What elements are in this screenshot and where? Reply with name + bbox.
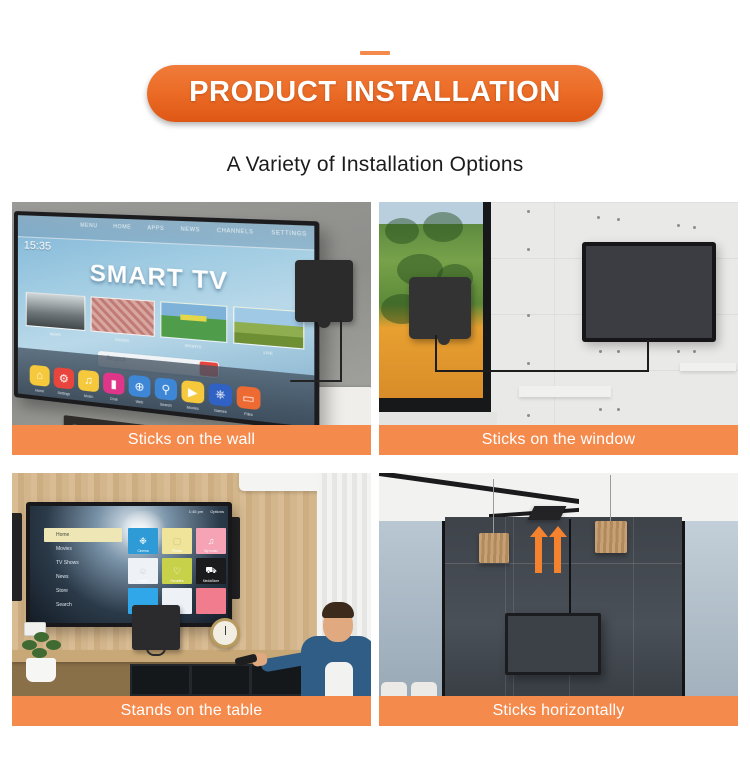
tv-side-menu: Home Movies TV Shows News Store Search [44, 528, 122, 612]
card-caption: Sticks on the wall [12, 425, 371, 455]
tv-thumbnail-label: SPORTS [161, 342, 226, 352]
antenna-device [295, 260, 353, 322]
files-app-icon: ▭Files [237, 386, 261, 411]
tv-menu-item: HOME [113, 224, 131, 231]
card-caption: Sticks on the window [379, 425, 738, 455]
video-app-icon: ▶Movies [181, 380, 204, 404]
tv-thumbnail-row: NEWS SHOWS SPORTS LIVE [26, 292, 305, 350]
pendant-lamp [595, 521, 627, 553]
tv-clock: 1:45 pm [189, 509, 203, 514]
page-subtitle: A Variety of Installation Options [0, 153, 750, 177]
installation-card-wall[interactable]: MENU HOME APPS NEWS CHANNELS SETTINGS 15… [12, 202, 371, 455]
photo-sticks-on-the-window [379, 202, 738, 425]
smart-tv-device: MENU HOME APPS NEWS CHANNELS SETTINGS 15… [14, 211, 319, 425]
photo-sticks-horizontally [379, 473, 738, 696]
music-app-icon: ♫Music [78, 370, 99, 393]
person-hair [322, 602, 354, 618]
wall-mounted-tv [505, 613, 601, 675]
antenna-device [409, 277, 471, 339]
tv-thumbnail-label: SHOWS [92, 336, 153, 346]
photo-sticks-on-the-wall: MENU HOME APPS NEWS CHANNELS SETTINGS 15… [12, 202, 371, 425]
product-installation-page: PRODUCT INSTALLATION A Variety of Instal… [0, 0, 750, 763]
tv-menu-item-store: Store [44, 584, 122, 598]
tv-thumbnail: SPORTS [160, 301, 227, 343]
tile-extra [196, 588, 226, 614]
antenna-cable [340, 320, 342, 382]
plant-pot [26, 658, 56, 682]
installation-card-horizontal[interactable]: Sticks horizontally [379, 473, 738, 726]
tv-menu-item: SETTINGS [271, 230, 307, 238]
tv-menu-item-search: Search [44, 598, 122, 612]
wall-mounted-tv [582, 242, 716, 342]
smart-tv-screen: MENU HOME APPS NEWS CHANNELS SETTINGS 15… [18, 215, 314, 425]
plant-leaves [20, 628, 64, 662]
music-tile-icon: ♫My music [196, 528, 226, 554]
wall-mounted-tv: 1:45 pm Options Home Movies TV Shows New… [26, 502, 232, 627]
pendant-lamp [479, 533, 509, 563]
profile-tile-icon: ☺Profile [128, 558, 158, 584]
tv-menu-item: APPS [147, 225, 164, 232]
favorites-tile-icon: ♡Favorites [162, 558, 192, 584]
tower-speaker [12, 513, 22, 601]
tv-thumbnail-label: LIVE [234, 348, 303, 358]
antenna-cable [569, 519, 571, 617]
office-chairs [381, 680, 451, 696]
tv-options-label: Options [210, 509, 224, 514]
tile-label: MediaStore [196, 579, 226, 583]
tv-menu-item-movies: Movies [44, 542, 122, 556]
tv-thumbnail: SHOWS [91, 296, 154, 337]
photos-tile-icon: ▢Photos [162, 528, 192, 554]
tv-screen [586, 246, 712, 338]
page-title: PRODUCT INSTALLATION [147, 65, 603, 122]
antenna-cable [647, 340, 649, 372]
home-app-icon: ⌂Home [30, 365, 50, 387]
installation-card-window[interactable]: Sticks on the window [379, 202, 738, 455]
card-caption: Stands on the table [12, 696, 371, 726]
antenna-device [132, 605, 180, 650]
installation-options-grid: MENU HOME APPS NEWS CHANNELS SETTINGS 15… [12, 202, 738, 726]
tile-label: Photos [162, 549, 192, 553]
tile-label: Profile [128, 579, 158, 583]
tv-thumbnail: LIVE [233, 306, 305, 349]
wall-shelf [519, 386, 611, 397]
tv-clock: 15:35 [24, 239, 51, 252]
person-shirt [325, 662, 353, 696]
up-arrow-icon [535, 535, 542, 573]
tv-tile-grid: ❉Cinema ▢Photos ♫My music ☺Profile ♡Favo… [128, 528, 226, 614]
antenna-device [528, 506, 567, 520]
tv-menu-item-news: News [44, 570, 122, 584]
tv-menu-item-home: Home [44, 528, 122, 542]
antenna-cable [435, 335, 437, 371]
tile-label: Cinema [128, 549, 158, 553]
photo-stands-on-the-table: 1:45 pm Options Home Movies TV Shows New… [12, 473, 371, 696]
tv-screen [508, 616, 598, 672]
pendant-lamp-wire [610, 475, 611, 523]
games-app-icon: ⎈Games [209, 383, 232, 407]
antenna-cable [435, 370, 649, 372]
tv-thumbnail-label: NEWS [27, 330, 85, 339]
tv-menu-item-tvshows: TV Shows [44, 556, 122, 570]
tv-status-bar: 1:45 pm Options [189, 509, 224, 514]
mediastore-tile-icon: ⛟MediaStore [196, 558, 226, 584]
antenna-cable [290, 380, 342, 382]
web-app-icon: ⊕Web [129, 375, 151, 398]
window-sill [379, 412, 497, 425]
settings-app-icon: ⚙Settings [54, 367, 74, 390]
tile-label: My music [196, 549, 226, 553]
tv-menu-item: NEWS [181, 226, 200, 233]
accent-dash-divider [360, 51, 390, 55]
wall-shelf [680, 363, 736, 371]
desk-clock [210, 618, 240, 648]
up-arrow-icon [554, 535, 561, 573]
pendant-lamp-wire [493, 479, 494, 535]
direction-arrows [535, 535, 561, 573]
card-caption: Sticks horizontally [379, 696, 738, 726]
cinema-tile-icon: ❉Cinema [128, 528, 158, 554]
page-header: PRODUCT INSTALLATION A Variety of Instal… [0, 0, 750, 177]
chat-app-icon: ▮Chat [103, 372, 124, 395]
window-right [680, 521, 738, 696]
tv-thumbnail: NEWS [26, 292, 86, 331]
window-left [379, 521, 447, 696]
tv-menu-item: MENU [80, 223, 97, 230]
tile-label: Favorites [162, 579, 192, 583]
search-app-icon: ⚲Search [155, 377, 177, 401]
installation-card-table[interactable]: 1:45 pm Options Home Movies TV Shows New… [12, 473, 371, 726]
tv-screen: 1:45 pm Options Home Movies TV Shows New… [30, 506, 228, 623]
